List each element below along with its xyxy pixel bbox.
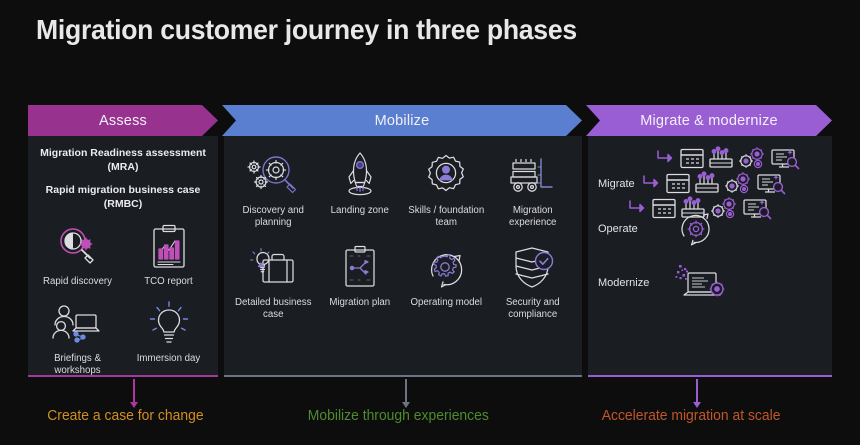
arrow-right-icon — [656, 147, 676, 169]
briefcase-bulb-icon — [245, 242, 301, 294]
gears-icon — [737, 146, 767, 170]
assess-item-rapid-discovery[interactable]: Rapid discovery — [32, 217, 123, 292]
mobilize-item-label: Migration plan — [329, 297, 390, 309]
footer-caption-mobilize: Mobilize through experiences — [308, 408, 489, 424]
mobilize-item-label: Migration experience — [492, 205, 575, 228]
phase-banner-label: Assess — [99, 113, 147, 129]
magnifier-gear-icon — [51, 221, 105, 273]
migrate-icon-row[interactable] — [642, 171, 824, 195]
footer-caption-assess: Create a case for change — [47, 408, 203, 424]
mobilize-item-discovery-planning[interactable]: Discovery and planning — [230, 146, 317, 232]
assess-item-label: TCO report — [144, 276, 192, 288]
mobilize-item-migration-experience[interactable]: Migration experience — [490, 146, 577, 232]
arrow-line — [696, 379, 698, 403]
gear-cycle-icon — [421, 242, 471, 294]
assess-item-label: Rapid discovery — [43, 276, 112, 288]
people-laptop-icon — [50, 298, 106, 350]
mobilize-item-label: Discovery and planning — [232, 205, 315, 228]
assess-lead-rmbc: Rapid migration business case (RMBC) — [28, 184, 218, 212]
phase-panel-mobilize: Discovery and planning — [224, 136, 582, 377]
phase-banner-assess[interactable]: Assess — [28, 105, 218, 136]
migrate-icon-row[interactable] — [656, 146, 824, 170]
mobilize-item-skills-foundation-team[interactable]: Skills / foundation team — [403, 146, 490, 232]
assess-item-briefings-workshops[interactable]: Briefings & workshops — [32, 294, 123, 377]
monitor-search-icon — [742, 196, 774, 220]
arrow-right-icon — [628, 197, 648, 219]
phase-panel-assess: Migration Readiness assessment (MRA) Rap… — [28, 136, 218, 377]
server-rack-icon — [694, 171, 720, 195]
assess-item-grid: Rapid discovery — [28, 217, 218, 377]
mobilize-item-grid-row1: Discovery and planning — [224, 136, 582, 232]
phase-banner-mobilize[interactable]: Mobilize — [222, 105, 582, 136]
assess-item-label: Immersion day — [137, 353, 201, 365]
phase-banner-migrate[interactable]: Migrate & modernize — [586, 105, 832, 136]
phase-panel-migrate: Migrate Operate — [588, 136, 832, 377]
arrow-line — [133, 379, 135, 403]
mobilize-item-label: Security and compliance — [492, 297, 575, 320]
server-rack-icon — [708, 146, 734, 170]
operate-label: Operate — [598, 223, 660, 235]
calendar-icon — [679, 146, 705, 170]
assess-item-immersion-day[interactable]: Immersion day — [123, 294, 214, 377]
phase-column-assess: Assess Migration Readiness assessment (M… — [28, 105, 218, 377]
lightbulb-icon — [147, 298, 191, 350]
mobilize-item-detailed-business-case[interactable]: Detailed business case — [230, 238, 317, 324]
infographic-page: Migration customer journey in three phas… — [0, 0, 860, 445]
magnifier-gears-icon — [243, 150, 303, 202]
gear-cycle-icon — [674, 208, 718, 250]
clipboard-plan-icon — [338, 242, 382, 294]
phase-column-migrate: Migrate & modernize — [588, 105, 832, 377]
mobilize-item-operating-model[interactable]: Operating model — [403, 238, 490, 324]
footer-caption-migrate: Accelerate migration at scale — [602, 408, 781, 424]
shield-check-icon — [508, 242, 558, 294]
arrow-line — [405, 379, 407, 403]
mobilize-item-label: Operating model — [410, 297, 482, 309]
mobilize-item-grid-row2: Detailed business case — [224, 232, 582, 324]
phase-column-mobilize: Mobilize — [224, 105, 582, 377]
page-title: Migration customer journey in three phas… — [36, 14, 577, 46]
phases-board: Assess Migration Readiness assessment (M… — [28, 105, 832, 377]
arrow-right-icon — [642, 172, 662, 194]
migrate-icon-row[interactable] — [628, 196, 824, 220]
migrate-row-group: Migrate — [588, 136, 832, 190]
monitor-search-icon — [756, 171, 788, 195]
modernize-label: Modernize — [598, 277, 660, 289]
assess-lead-mra: Migration Readiness assessment (MRA) — [28, 147, 218, 175]
phase-banner-label: Migrate & modernize — [640, 113, 778, 129]
forklift-icon — [505, 150, 561, 202]
monitor-search-icon — [770, 146, 802, 170]
migrate-item-modernize[interactable]: Modernize — [588, 262, 832, 304]
gears-icon — [723, 171, 753, 195]
clipboard-chart-icon — [147, 221, 191, 273]
gear-person-icon — [422, 150, 470, 202]
assess-item-tco-report[interactable]: TCO report — [123, 217, 214, 292]
assess-item-label: Briefings & workshops — [34, 353, 121, 376]
mobilize-item-migration-plan[interactable]: Migration plan — [317, 238, 404, 324]
laptop-gear-icon — [674, 262, 732, 304]
phase-banner-label: Mobilize — [375, 113, 430, 129]
mobilize-item-label: Skills / foundation team — [405, 205, 488, 228]
mobilize-item-landing-zone[interactable]: Landing zone — [317, 146, 404, 232]
mobilize-item-label: Landing zone — [331, 205, 389, 217]
mobilize-item-label: Detailed business case — [232, 297, 315, 320]
calendar-icon — [665, 171, 691, 195]
mobilize-item-security-compliance[interactable]: Security and compliance — [490, 238, 577, 324]
rocket-icon — [337, 150, 383, 202]
